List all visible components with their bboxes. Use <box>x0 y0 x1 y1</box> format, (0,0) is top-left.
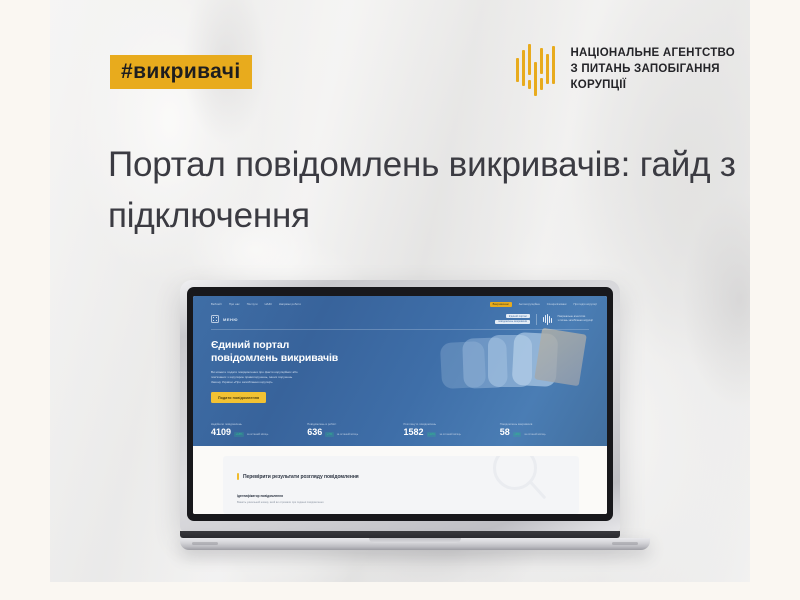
laptop-notch <box>364 287 436 296</box>
portal-badge-0: Єдиний портал <box>506 314 530 319</box>
stat-value: 58 <box>500 428 510 437</box>
stat-label: Повідомлень в роботі <box>307 423 398 426</box>
poster-canvas: #викривачі Національне агентство з питан… <box>0 0 800 600</box>
hero-title: Єдиний портал повідомлень викривачів <box>211 339 408 366</box>
site-white-section: Перевірити результати розгляду повідомле… <box>193 446 607 514</box>
stat-card: Повідомлень в роботі 636 +7% за останній… <box>307 423 398 437</box>
site-topnav: Вебсайт Про нас Послуги НАЗК Напрями роб… <box>193 296 607 309</box>
topnav-item-4[interactable]: Напрями роботи <box>279 303 301 306</box>
topnav-item-1[interactable]: Про нас <box>229 303 240 306</box>
stat-card: Повідомлень викривачів 58 +3% за останні… <box>500 423 591 437</box>
laptop-foot-left <box>192 542 218 545</box>
stat-value: 636 <box>307 428 322 437</box>
check-status-card: Перевірити результати розгляду повідомле… <box>223 456 579 514</box>
site-header-brand: Єдиний портал повідомлень викривачів <box>495 314 593 325</box>
stat-delta: +3% <box>513 432 521 436</box>
menu-button[interactable]: МЕНЮ <box>211 315 238 323</box>
page-title: Портал повідомлень викривачів: гайд з пі… <box>108 140 748 242</box>
stat-period: за останній місяць <box>524 433 545 436</box>
stat-value: 1582 <box>404 428 424 437</box>
card-fan-graphic <box>441 326 591 404</box>
check-card-title: Перевірити результати розгляду повідомле… <box>243 474 359 480</box>
stat-row: 1582 +12% за останній місяць <box>404 428 495 437</box>
laptop-hinge <box>180 531 620 538</box>
topnav-item-2[interactable]: Послуги <box>247 303 258 306</box>
stat-card: Розглянуто повідомлень 1582 +12% за оста… <box>404 423 495 437</box>
stat-row: 636 +7% за останній місяць <box>307 428 398 437</box>
laptop-mockup: Вебсайт Про нас Послуги НАЗК Напрями роб… <box>180 280 620 550</box>
stat-row: 58 +3% за останній місяць <box>500 428 591 437</box>
stat-label: Надійшло повідомлень <box>211 423 302 426</box>
nazk-logo: Національне агентство з питань запобіган… <box>516 44 736 96</box>
stat-delta: +7% <box>325 432 333 436</box>
topnav-item-5[interactable]: Антикорупційна <box>519 303 540 306</box>
stat-period: за останній місяць <box>439 433 460 436</box>
submit-report-button[interactable]: Подати повідомлення <box>211 392 266 403</box>
hero-subtitle: Ви можете подати повідомлення про факти … <box>211 370 408 385</box>
laptop-foot-right <box>612 542 638 545</box>
stat-period: за останній місяць <box>247 433 268 436</box>
stat-card: Надійшло повідомлень 4109 +18% за останн… <box>211 423 302 437</box>
hero-copy: Єдиний портал повідомлень викривачів Ви … <box>193 330 408 404</box>
check-card-form: Ідентифікатор повідомлення Вкажіть уніка… <box>223 480 579 504</box>
site-hero-section: Вебсайт Про нас Послуги НАЗК Напрями роб… <box>193 296 607 446</box>
topnav-item-7[interactable]: Протидія корупції <box>573 303 597 306</box>
stat-label: Повідомлень викривачів <box>500 423 591 426</box>
menu-label: МЕНЮ <box>223 317 238 322</box>
stats-row: Надійшло повідомлень 4109 +18% за останн… <box>211 423 591 437</box>
laptop-bezel: Вебсайт Про нас Послуги НАЗК Напрями роб… <box>187 287 613 521</box>
portal-badges: Єдиний портал повідомлень викривачів <box>495 314 530 325</box>
hashtag-badge: #викривачі <box>110 55 252 89</box>
site-header-bar: МЕНЮ Єдиний портал повідомлень викривачі… <box>193 309 607 327</box>
topnav-item-3[interactable]: НАЗК <box>265 303 272 306</box>
header-org-name: Національне агентство з питань запобіган… <box>558 315 593 322</box>
grid-icon <box>211 315 219 323</box>
topnav-item-0[interactable]: Вебсайт <box>211 303 222 306</box>
stat-value: 4109 <box>211 428 231 437</box>
nazk-logo-mark-icon <box>516 44 560 96</box>
nazk-mini-logo-icon <box>543 314 552 325</box>
accent-bar <box>237 473 239 480</box>
stat-delta: +18% <box>234 432 244 436</box>
nazk-logo-text: Національне агентство з питань запобіган… <box>571 46 736 94</box>
header-divider <box>536 314 537 325</box>
report-id-hint: Вкажіть унікальний номер, який ви отрима… <box>237 501 579 504</box>
stat-period: за останній місяць <box>337 433 358 436</box>
portal-badge-1: повідомлень викривачів <box>495 320 530 325</box>
stat-delta: +12% <box>427 432 437 436</box>
laptop-screen: Вебсайт Про нас Послуги НАЗК Напрями роб… <box>193 296 607 514</box>
topnav-item-whistleblowers[interactable]: Викривачам <box>490 302 512 307</box>
stat-row: 4109 +18% за останній місяць <box>211 428 302 437</box>
stat-label: Розглянуто повідомлень <box>404 423 495 426</box>
laptop-base <box>180 538 650 550</box>
check-card-header: Перевірити результати розгляду повідомле… <box>223 456 579 480</box>
topnav-item-6[interactable]: Спеціалізовані <box>547 303 567 306</box>
laptop-lid: Вебсайт Про нас Послуги НАЗК Напрями роб… <box>180 280 620 531</box>
report-id-label: Ідентифікатор повідомлення <box>237 494 579 498</box>
